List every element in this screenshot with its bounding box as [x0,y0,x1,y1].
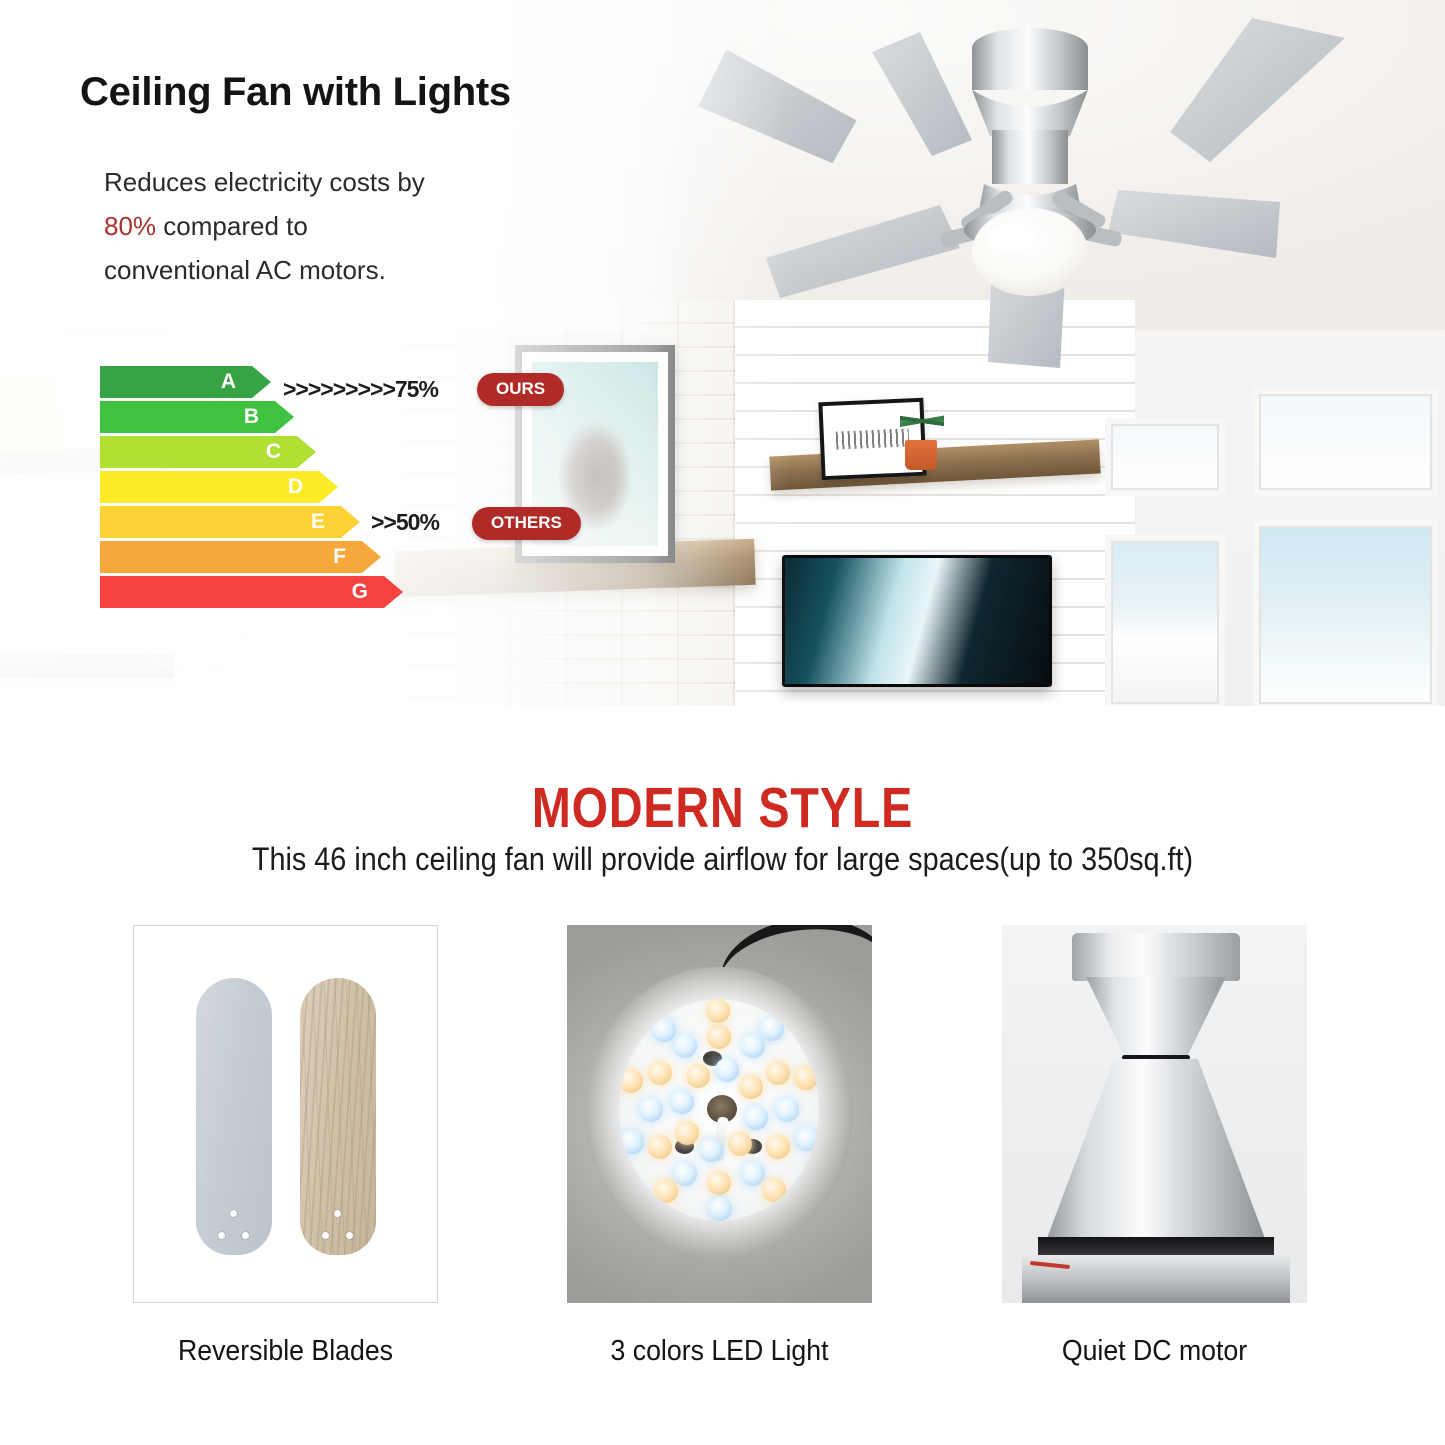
ceiling-canopy [1072,933,1240,981]
ours-badge: OURS [477,373,564,406]
led-diode [707,1171,731,1195]
wall-mounted-tv [782,555,1052,687]
led-pcb [619,999,819,1221]
led-diode [648,1061,672,1085]
silver-blade [196,978,272,1255]
feature-label-2: Quiet DC motor [1014,1335,1295,1368]
led-diode [766,1061,790,1085]
transom-window [1105,418,1225,496]
led-diode [766,1135,790,1159]
section-title: MODERN STYLE [130,775,1315,841]
led-diode [673,1034,697,1058]
others-value: 50% [396,509,439,535]
energy-bar-e: E [100,506,341,538]
reversible-blades-image [133,925,438,1303]
energy-grade-label: B [244,405,259,429]
feature-label-0: Reversible Blades [145,1335,426,1368]
led-diode [686,1064,710,1088]
energy-grade-label: C [266,440,281,464]
ours-efficiency-label: >>>>>>>>>75% [283,376,438,403]
led-diode [675,1121,699,1145]
energy-bar-g: G [100,576,384,608]
led-diode [715,1058,739,1082]
led-diode [708,1197,732,1221]
others-efficiency-label: >>50% [371,509,439,536]
energy-bar-row: B [100,401,380,433]
hero-banner: Ceiling Fan with Lights Reduces electric… [0,0,1445,706]
energy-bar-a: A [100,366,252,398]
energy-bar-b: B [100,401,275,433]
led-diode [760,1017,784,1041]
led-diode [648,1135,672,1159]
energy-grade-label: F [333,545,346,569]
led-diode [762,1178,786,1202]
mounting-plate [1022,1255,1290,1303]
led-diode [639,1098,663,1122]
percent-value: 80% [104,211,156,241]
led-diode [673,1162,697,1186]
transom-window [1253,388,1438,496]
section-subtitle: This 46 inch ceiling fan will provide ai… [72,841,1373,878]
feature-card-dc-motor: Quiet DC motor [1002,925,1307,1368]
energy-efficiency-chart: ABCDEFG [100,366,380,614]
led-diode [652,1018,676,1042]
energy-grade-label: D [288,475,303,499]
energy-bar-row: C [100,436,380,468]
led-diode [744,1106,768,1130]
others-badge: OTHERS [472,507,581,540]
energy-grade-label: G [352,580,368,604]
feature-card-led-light: 3 colors LED Light [567,925,872,1368]
led-diode [654,1179,678,1203]
hero-subtitle: Reduces electricity costs by 80% compare… [104,160,574,292]
energy-bar-row: G [100,576,380,608]
others-chevrons: >> [371,509,396,535]
led-diode [739,1075,763,1099]
hero-subtitle-line2: compared to [163,211,308,241]
led-diode [728,1132,752,1156]
wood-blade [300,978,376,1255]
feature-label-1: 3 colors LED Light [579,1335,860,1368]
energy-grade-label: E [311,510,325,534]
energy-bar-row: F [100,541,380,573]
led-light-image [567,925,872,1303]
ours-chevrons: >>>>>>>>> [283,376,395,402]
energy-bar-d: D [100,471,319,503]
energy-bar-row: E [100,506,380,538]
led-diode [794,1066,818,1090]
led-diode [741,1034,765,1058]
led-diode [707,1025,731,1049]
energy-bar-row: D [100,471,380,503]
page-title: Ceiling Fan with Lights [80,70,511,115]
feature-card-reversible-blades: Reversible Blades [133,925,438,1368]
led-diode [706,999,730,1023]
led-diode [741,1162,765,1186]
led-diode [670,1090,694,1114]
potted-plant-leaves [900,398,944,444]
hero-subtitle-line1: Reduces electricity costs by [104,167,425,197]
feature-cards: Reversible Blades 3 colors LED Light [0,925,1445,1445]
window [1253,520,1438,706]
modern-style-section: MODERN STYLE This 46 inch ceiling fan wi… [0,706,1445,1445]
ours-value: 75% [395,376,438,402]
window [1105,535,1225,706]
energy-bar-f: F [100,541,362,573]
dc-motor-image [1002,925,1307,1303]
led-diode [775,1098,799,1122]
led-diode [619,1069,643,1093]
energy-bar-c: C [100,436,297,468]
hero-subtitle-line3: conventional AC motors. [104,255,386,285]
led-diode [620,1130,644,1154]
energy-grade-label: A [221,370,236,394]
terracotta-pot [905,440,937,470]
